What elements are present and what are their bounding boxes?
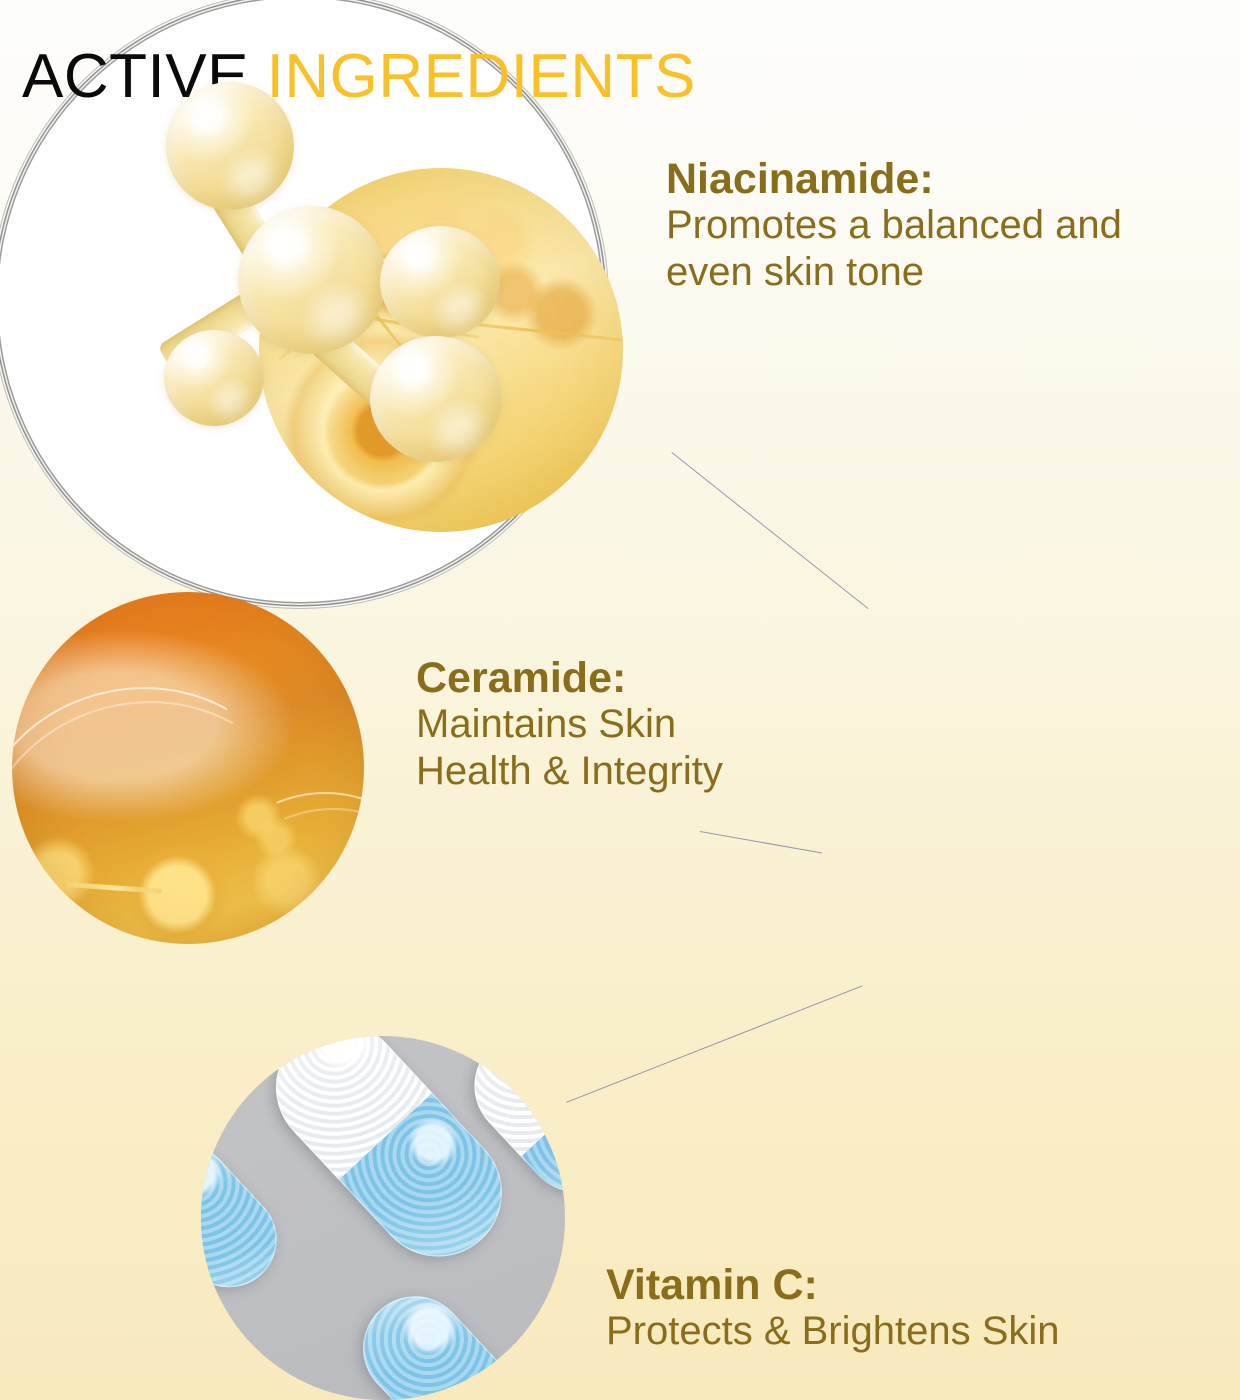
molecule-node-center (238, 206, 386, 354)
ingredient-desc-niacinamide-line2: even skin tone (666, 249, 1122, 296)
connector-line-niacinamide (671, 452, 868, 609)
ingredient-desc-niacinamide-line1: Promotes a balanced and (666, 202, 1122, 249)
page-title: ACTIVE INGREDIENTS (22, 46, 696, 108)
title-ingredients-word: INGREDIENTS (249, 42, 696, 111)
ingredient-name-vitaminc: Vitamin C: (606, 1262, 1060, 1308)
molecule-node-bottom-right (370, 336, 502, 462)
ingredient-text-niacinamide: Niacinamide: Promotes a balanced and eve… (666, 156, 1122, 296)
ingredient-desc-vitaminc-line1: Protects & Brightens Skin (606, 1308, 1060, 1355)
ingredient-text-ceramide: Ceramide: Maintains Skin Health & Integr… (416, 655, 723, 795)
ingredient-name-ceramide: Ceramide: (416, 655, 723, 701)
capsule-partial-bottom (342, 1275, 541, 1400)
connector-line-vitaminc (566, 985, 862, 1102)
molecule-node-right (380, 226, 500, 338)
infographic-canvas: ACTIVE INGREDIENTS (0, 0, 1240, 1400)
molecule-node-bottom-left (164, 330, 264, 426)
ingredient-desc-ceramide-line1: Maintains Skin (416, 701, 723, 748)
capsule-partial-left (201, 1125, 297, 1307)
connector-line-ceramide (700, 831, 822, 854)
molecule-node-top (166, 82, 294, 210)
ingredient-desc-ceramide-line2: Health & Integrity (416, 748, 723, 795)
ingredient-image-ceramide (12, 592, 364, 944)
ingredient-text-vitaminc: Vitamin C: Protects & Brightens Skin (606, 1262, 1060, 1355)
ingredient-image-vitaminc (201, 1036, 565, 1400)
ingredient-name-niacinamide: Niacinamide: (666, 156, 1122, 202)
